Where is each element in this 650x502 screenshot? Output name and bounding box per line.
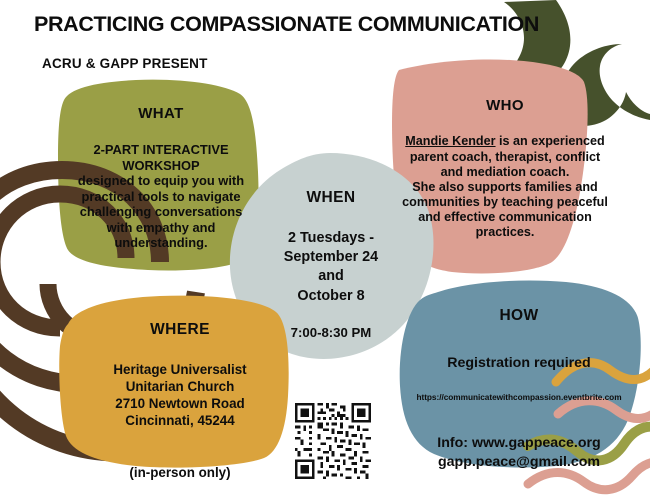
who-section: WHO Mandie Kender is an experienced pare… <box>398 78 612 259</box>
who-heading: WHO <box>398 97 612 114</box>
contact-info[interactable]: Info: www.gappeace.org gapp.peace@gmail.… <box>400 434 638 471</box>
where-section: WHERE Heritage Universalist Unitarian Ch… <box>82 302 278 499</box>
page-title: PRACTICING COMPASSIONATE COMMUNICATION <box>34 13 574 36</box>
where-note: (in-person only) <box>82 465 278 481</box>
what-section: WHAT 2-PART INTERACTIVE WORKSHOP designe… <box>66 86 256 269</box>
when-dates: 2 Tuesdays - September 24 and October 8 <box>246 229 416 306</box>
when-heading: WHEN <box>246 189 416 207</box>
registration-label: Registration required <box>400 355 638 371</box>
how-heading: HOW <box>400 307 638 325</box>
how-section: HOW Registration required https://commun… <box>400 288 638 490</box>
presenter-line: ACRU & GAPP PRESENT <box>42 56 442 72</box>
where-address: Heritage Universalist Unitarian Church 2… <box>82 361 278 429</box>
who-body: Mandie Kender is an experienced parent c… <box>398 134 612 240</box>
where-heading: WHERE <box>82 321 278 339</box>
what-heading: WHAT <box>66 105 256 122</box>
who-body-text: is an experienced parent coach, therapis… <box>402 134 608 239</box>
what-body: 2-PART INTERACTIVE WORKSHOP designed to … <box>66 142 256 250</box>
qr-code-icon[interactable] <box>292 400 374 482</box>
registration-url[interactable]: https://communicatewithcompassion.eventb… <box>400 393 638 403</box>
speaker-name: Mandie Kender <box>405 134 495 148</box>
poster-canvas: PRACTICING COMPASSIONATE COMMUNICATION A… <box>0 0 650 502</box>
